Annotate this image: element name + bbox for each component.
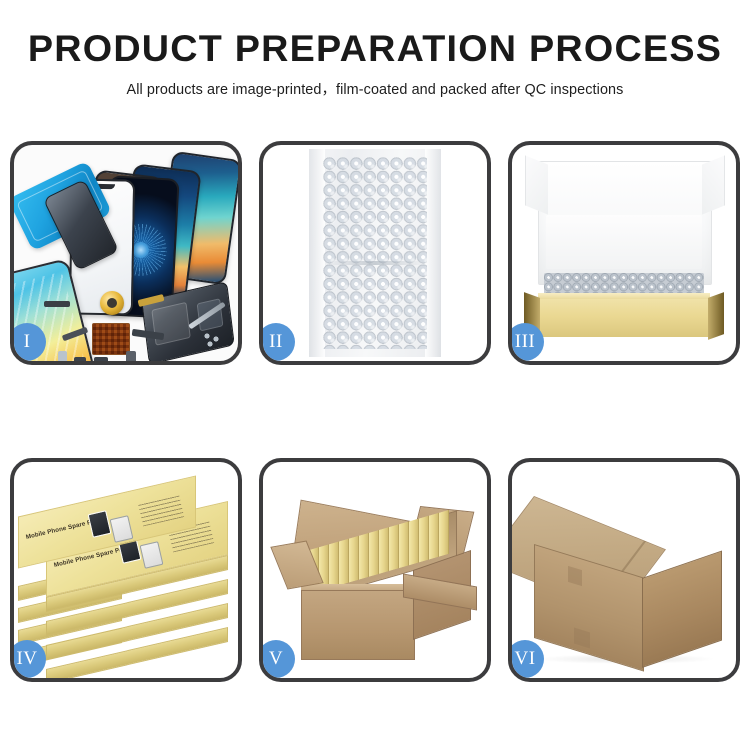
screws-group xyxy=(204,333,222,347)
page-header: PRODUCT PREPARATION PROCESS All products… xyxy=(0,0,750,99)
step-6-image xyxy=(512,462,736,678)
wrap-edge-right xyxy=(425,149,441,357)
step-4-image: Mobile Phone Spare Parts Mobile Phone Sp… xyxy=(14,462,238,678)
retail-box-stack: Mobile Phone Spare Parts Mobile Phone Sp… xyxy=(14,462,238,678)
copper-grid-part xyxy=(92,323,130,355)
process-steps-grid: I II III xyxy=(10,141,740,682)
box-front-yellow xyxy=(536,299,712,337)
small-part-1 xyxy=(58,351,67,361)
small-part-3 xyxy=(94,357,108,361)
content-box xyxy=(379,527,389,574)
bubble-highlights xyxy=(323,157,427,349)
gold-coil-part xyxy=(100,291,124,315)
wrap-seal-line xyxy=(323,261,427,265)
page-subtitle: All products are image-printed，film-coat… xyxy=(0,78,750,99)
content-box xyxy=(389,524,399,571)
carton-front-face xyxy=(301,590,415,660)
process-step-2[interactable]: II xyxy=(259,141,491,365)
process-step-1[interactable]: I xyxy=(10,141,242,365)
process-step-3[interactable]: III xyxy=(508,141,740,365)
content-box xyxy=(359,533,369,580)
carton-right-face xyxy=(642,550,722,668)
step-2-image xyxy=(263,145,487,361)
open-shipping-carton xyxy=(263,462,487,678)
small-part-2 xyxy=(74,357,86,361)
small-part-4 xyxy=(126,351,136,361)
page-title: PRODUCT PREPARATION PROCESS xyxy=(0,30,750,69)
content-box xyxy=(329,541,339,588)
foam-liner xyxy=(546,215,702,269)
process-step-6[interactable]: VI xyxy=(508,458,740,682)
process-step-4[interactable]: Mobile Phone Spare Parts Mobile Phone Sp… xyxy=(10,458,242,682)
step-1-image xyxy=(14,145,238,361)
content-box xyxy=(419,516,429,563)
content-box xyxy=(369,530,379,577)
process-step-5[interactable]: V xyxy=(259,458,491,682)
sealed-shipping-carton xyxy=(512,462,736,678)
bubble-wrap-sheet xyxy=(309,149,441,357)
open-inner-box xyxy=(512,145,736,361)
content-box xyxy=(349,536,359,583)
content-box xyxy=(439,510,449,557)
content-box xyxy=(429,513,439,560)
step-3-image xyxy=(512,145,736,361)
content-box xyxy=(409,518,419,565)
content-box xyxy=(339,539,349,586)
connector-bar-part xyxy=(44,301,70,307)
step-5-image xyxy=(263,462,487,678)
content-box xyxy=(399,521,409,568)
